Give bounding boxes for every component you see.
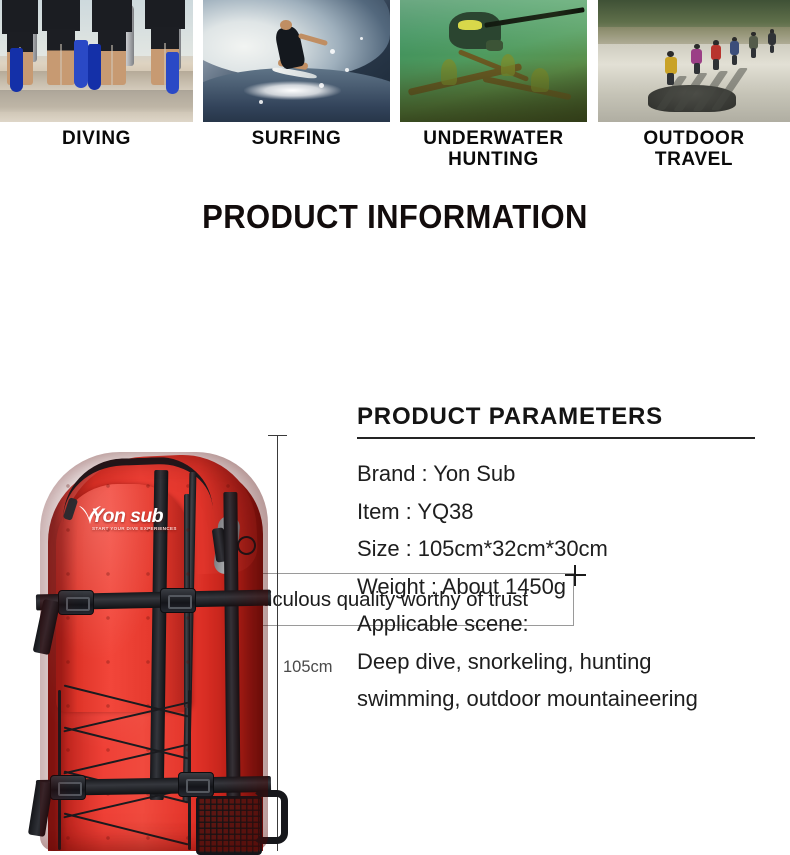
hiker-legs [770,45,775,54]
bungee-anchor-right [188,690,191,850]
brand-logo-tagline: START YOUR DIVE EXPERIENCES [92,526,173,531]
hiker-legs [713,59,719,70]
leg-gap [111,45,113,85]
buckle-upper-right [160,588,196,613]
hiker-backpack [730,41,740,55]
spray-droplet [330,49,335,54]
hiker-backpack [749,36,758,49]
param-item: Item : YQ38 [357,493,757,531]
underwater-hunting-photo [400,0,587,122]
hiker-backpack [711,45,721,60]
product-parameters-heading: PRODUCT PARAMETERS [357,403,757,437]
param-applicable-scene-line2: swimming, outdoor mountaineering [357,680,757,718]
param-applicable-scene-line1: Deep dive, snorkeling, hunting [357,643,757,681]
hiker-backpack [665,57,677,74]
wet-sand [0,90,193,112]
param-size: Size : 105cm*32cm*30cm [357,530,757,568]
brand-logo-word: Yon sub [91,506,173,526]
surfing-photo [203,0,390,122]
param-weight: Weight : About 1450g [357,568,757,606]
swim-fin [74,40,88,88]
swim-fin [166,52,179,94]
product-parameters-panel: PRODUCT PARAMETERS Brand : Yon Sub Item … [357,403,757,718]
swim-fin [88,44,101,90]
foam [244,81,341,101]
category-cell-surfing[interactable]: SURFING [203,0,390,175]
hiker [663,51,678,85]
spray-droplet [319,83,324,88]
bungee-anchor-left [58,690,61,850]
category-label-outdoor-travel: OUTDOORTRAVEL [598,128,790,171]
hiker [690,44,703,74]
hiker-legs [694,63,700,74]
outdoor-travel-photo [598,0,790,122]
brand-logo: Yon sub START YOUR DIVE EXPERIENCES [77,506,173,531]
buckle-upper-left [58,590,94,615]
buckle-lower-left [50,775,86,800]
hiker-legs [667,73,674,85]
hiker [729,37,741,65]
param-brand: Brand : Yon Sub [357,455,757,493]
category-cell-outdoor-travel[interactable]: OUTDOORTRAVEL [598,0,790,175]
hiker-legs [732,55,738,65]
heading-divider [357,437,755,439]
diver-torso [42,0,80,31]
category-label-underwater-hunting: UNDERWATERHUNTING [400,128,587,171]
tagline-block: meticulous quality worthy of trust [0,280,790,360]
diver-torso [2,0,38,34]
murky-depth [400,59,587,122]
side-carry-handle [252,790,288,844]
category-cell-underwater-hunting[interactable]: UNDERWATERHUNTING [400,0,587,175]
category-label-diving: DIVING [0,128,193,149]
hiker-backpack [768,33,776,45]
category-label-surfing: SURFING [203,128,390,149]
spearfisher-hand [486,40,503,51]
diver-torso [92,0,132,32]
category-cell-diving[interactable]: DIVING [0,0,193,175]
diver [145,0,185,85]
spray-droplet [360,37,363,40]
surfer-head [280,20,292,31]
hiker-backpack [691,49,701,64]
hiker [767,29,777,53]
diver-torso [145,0,185,29]
swim-fin [10,48,23,92]
param-applicable-scene-label: Applicable scene: [357,605,757,643]
buckle-lower-right [178,772,214,797]
diving-photo [0,0,193,122]
dive-mask [458,20,482,31]
hiker [748,32,759,58]
leg-gap [60,44,62,85]
yon-sub-y-mark-icon [77,504,103,528]
page-title: PRODUCT INFORMATION [24,198,767,236]
hiker [709,40,722,70]
hiker-legs [751,48,756,57]
category-strip: DIVING SURFING [0,0,790,175]
